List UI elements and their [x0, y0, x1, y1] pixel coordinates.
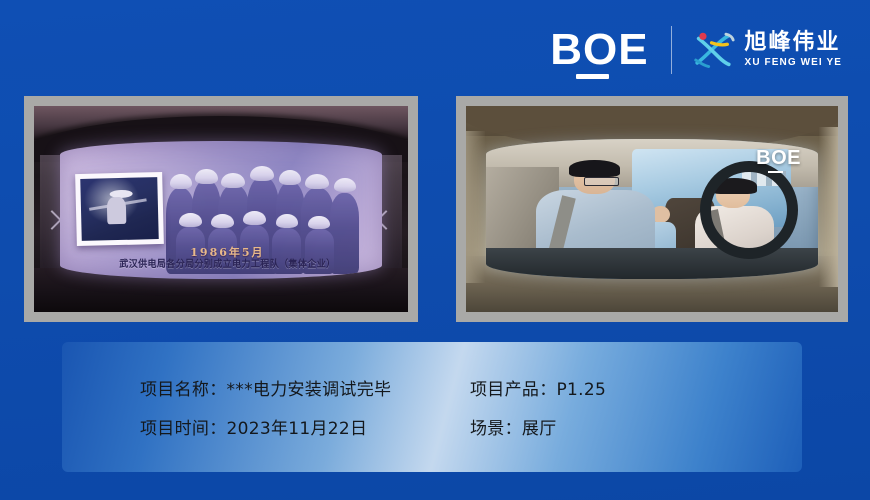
- xufeng-bird-icon: [690, 27, 736, 73]
- exhibition-hall-right: BOE: [466, 106, 838, 312]
- exhibition-hall-left: 1986年5月 武汉供电局各分局分别成立电力工程队（集体企业）: [34, 106, 408, 312]
- label-project-date: 项目时间：: [140, 419, 227, 439]
- partner-logo: 旭峰伟业 XU FENG WEI YE: [690, 27, 842, 73]
- project-info-panel: 项目名称：***电力安装调试完毕 项目时间：2023年11月22日 项目产品：P…: [62, 342, 802, 472]
- logo-divider: [671, 26, 672, 74]
- hall-wall-left: [466, 131, 485, 283]
- info-column-right: 项目产品：P1.25 场景：展厅: [470, 375, 606, 439]
- photo-left-image: 1986年5月 武汉供电局各分局分别成立电力工程队（集体企业）: [34, 106, 408, 312]
- info-row-project-date: 项目时间：2023年11月22日: [140, 414, 470, 439]
- boe-wordmark: BOE: [550, 28, 648, 72]
- led-caption-text: 武汉供电局各分局分别成立电力工程队（集体企业）: [89, 259, 366, 271]
- boe-underline-accent: [576, 74, 609, 79]
- man-hair: [569, 160, 619, 176]
- label-scene: 场景：: [470, 419, 522, 439]
- info-row-scene: 场景：展厅: [470, 414, 606, 439]
- led-content-boe-logo: BOE: [756, 147, 801, 173]
- value-scene: 展厅: [522, 419, 557, 439]
- boe-logo: BOE: [550, 28, 670, 72]
- car-interior-scene: BOE: [486, 139, 817, 279]
- man-glasses-icon: [584, 177, 619, 186]
- steering-wheel: [700, 161, 798, 259]
- value-project-name: ***电力安装调试完毕: [227, 380, 392, 400]
- info-column-left: 项目名称：***电力安装调试完毕 项目时间：2023年11月22日: [140, 375, 470, 439]
- value-project-date: 2023年11月22日: [227, 419, 368, 439]
- value-product: P1.25: [557, 380, 607, 400]
- led-caption-block: 1986年5月 武汉供电局各分局分别成立电力工程队（集体企业）: [89, 246, 366, 271]
- hall-wall-right: [819, 127, 838, 288]
- photo-card-left[interactable]: 1986年5月 武汉供电局各分局分别成立电力工程队（集体企业）: [24, 96, 418, 322]
- inset-vintage-photo: [75, 172, 164, 246]
- partner-name-en: XU FENG WEI YE: [745, 57, 842, 69]
- led-wall-left: 1986年5月 武汉供电局各分局分别成立电力工程队（集体企业）: [60, 141, 382, 279]
- led-caption-year: 1986年5月: [89, 246, 366, 260]
- inset-worker-body: [107, 197, 126, 225]
- slide-root: BOE 旭峰伟业 XU FENG WEI YE: [0, 0, 870, 500]
- partner-name-cn: 旭峰伟业: [745, 31, 842, 56]
- led-wall-right: BOE: [486, 139, 817, 279]
- label-product: 项目产品：: [470, 380, 557, 400]
- info-row-product: 项目产品：P1.25: [470, 375, 606, 400]
- partner-text: 旭峰伟业 XU FENG WEI YE: [745, 31, 842, 70]
- info-row-project-name: 项目名称：***电力安装调试完毕: [140, 375, 470, 400]
- logo-lockup: BOE 旭峰伟业 XU FENG WEI YE: [550, 22, 842, 78]
- led-boe-underline: [768, 171, 783, 173]
- photo-card-right[interactable]: BOE: [456, 96, 848, 322]
- led-boe-text: BOE: [756, 147, 801, 169]
- photo-right-image: BOE: [466, 106, 838, 312]
- inset-photo-image: [81, 177, 159, 241]
- label-project-name: 项目名称：: [140, 380, 227, 400]
